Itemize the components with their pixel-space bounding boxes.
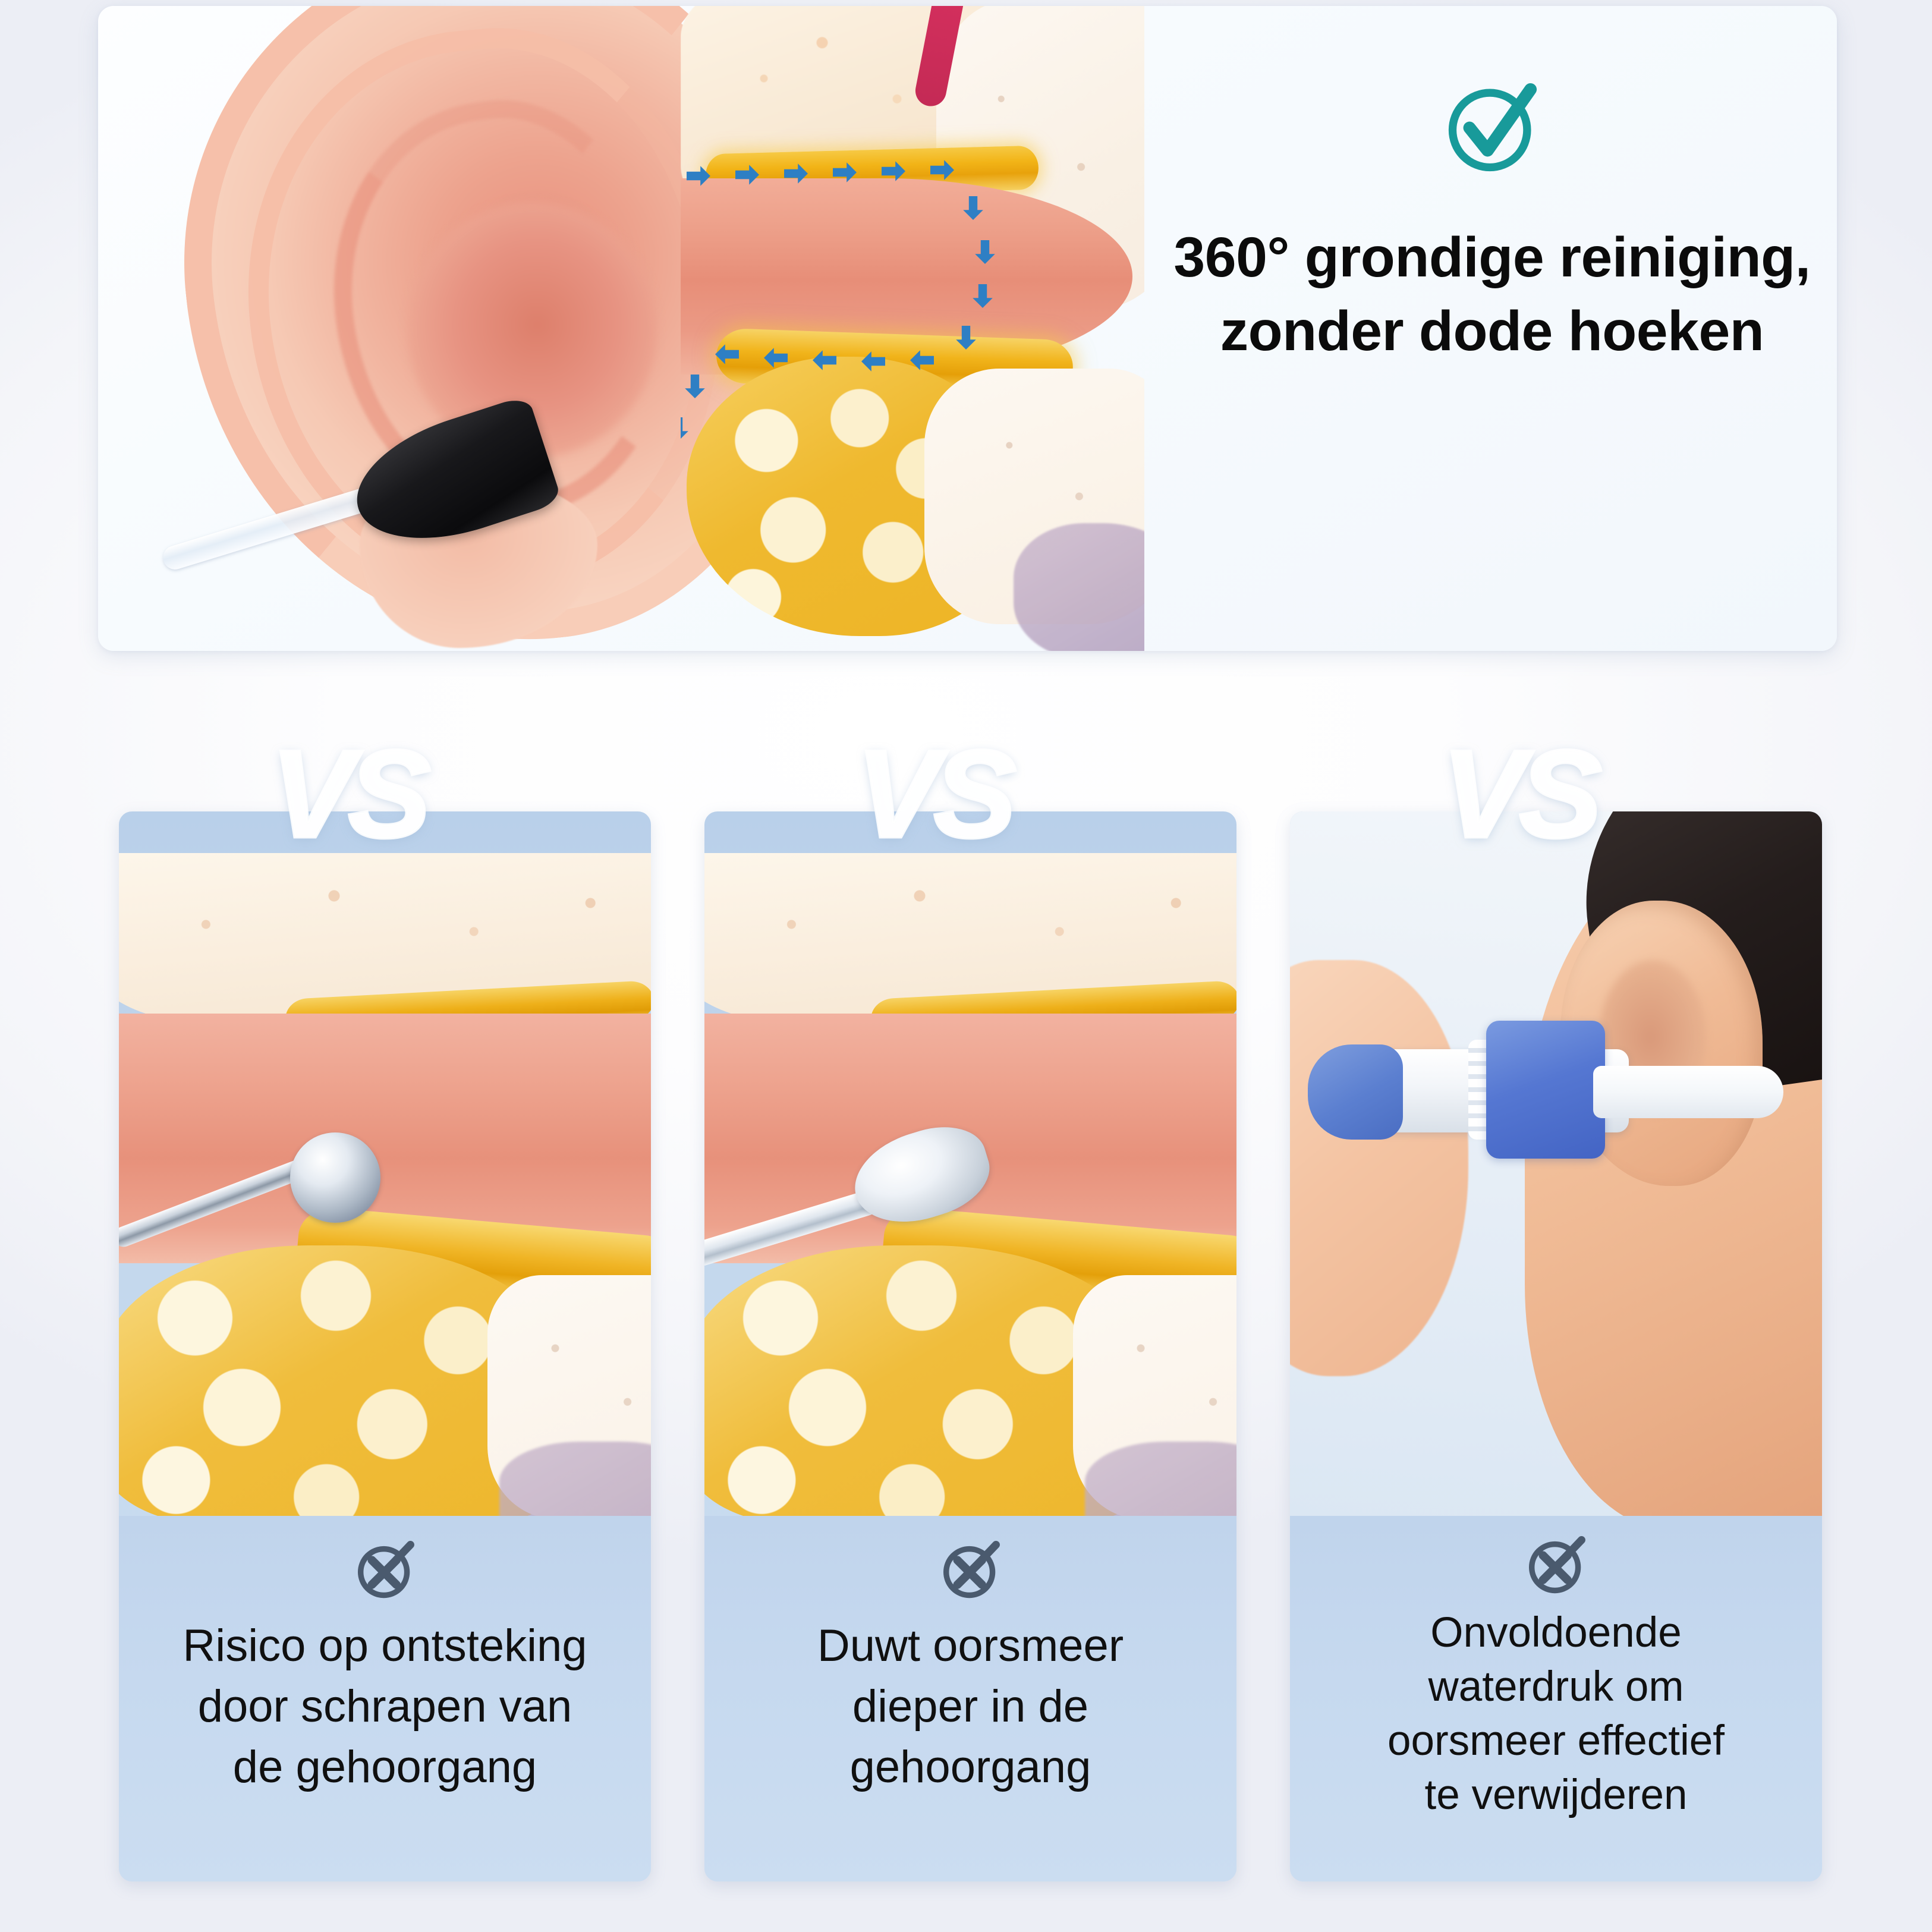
flow-arrow-icon	[683, 375, 707, 398]
caption-line: de gehoorgang	[182, 1737, 587, 1798]
flow-arrow-icon	[833, 161, 857, 184]
hero-panel: 360° grondige reiniging, zonder dode hoe…	[98, 6, 1837, 651]
caption-line: Onvoldoende	[1387, 1606, 1725, 1660]
check-circle-icon	[1436, 71, 1549, 184]
caption-line: Duwt oorsmeer	[817, 1616, 1124, 1676]
flow-arrow-icon	[961, 196, 985, 220]
hero-text-block: 360° grondige reiniging, zonder dode hoe…	[1162, 71, 1822, 368]
device-blue-collar	[1486, 1021, 1605, 1159]
card-caption-panel: Risico op ontsteking door schrapen van d…	[119, 1516, 651, 1881]
card-photo-ear-vacuum	[1290, 811, 1822, 1516]
flow-arrow-icon	[973, 240, 997, 264]
caption-line: te verwijderen	[1387, 1769, 1725, 1823]
card-caption-panel: Onvoldoende waterdruk om oorsmeer effect…	[1290, 1516, 1822, 1881]
caption-line: Risico op ontsteking	[182, 1616, 587, 1676]
model-hand	[1290, 960, 1468, 1376]
card-caption-text: Duwt oorsmeer dieper in de gehoorgang	[797, 1616, 1144, 1797]
caption-line: waterdruk om	[1387, 1660, 1725, 1714]
flow-arrow-icon	[930, 158, 954, 182]
card-caption-panel: Duwt oorsmeer dieper in de gehoorgang	[704, 1516, 1236, 1881]
page-title: 360° grondige reiniging, zonder dode hoe…	[1173, 221, 1810, 368]
flow-arrow-icon	[687, 164, 710, 188]
card-illustration-ear-pick	[119, 811, 651, 1516]
flow-arrow-icon	[735, 163, 759, 187]
flow-arrow-icon	[681, 417, 690, 441]
hero-title-line-1: 360° grondige reiniging,	[1173, 221, 1810, 295]
caption-line: oorsmeer effectief	[1387, 1714, 1725, 1769]
x-circle-icon	[936, 1535, 1006, 1605]
flow-arrow-icon	[954, 326, 978, 350]
flow-arrow-icon	[882, 159, 905, 183]
flow-arrow-icon	[910, 348, 934, 372]
card-caption-text: Risico op ontsteking door schrapen van d…	[162, 1616, 607, 1797]
flow-arrow-icon	[764, 346, 788, 370]
x-circle-icon	[350, 1535, 420, 1605]
ear-canal-cross-section	[681, 6, 1144, 651]
device-white-tip	[1593, 1066, 1783, 1118]
caption-line: dieper in de	[817, 1676, 1124, 1737]
ear-pick-scoop-head	[290, 1132, 380, 1223]
flow-arrow-icon	[971, 284, 995, 308]
device-grip	[1308, 1044, 1403, 1140]
comparison-card-ear-vacuum: Onvoldoende waterdruk om oorsmeer effect…	[1290, 811, 1822, 1881]
card-caption-text: Onvoldoende waterdruk om oorsmeer effect…	[1374, 1606, 1738, 1823]
flow-arrow-icon	[784, 162, 808, 185]
comparison-card-ear-pick: Risico op ontsteking door schrapen van d…	[119, 811, 651, 1881]
mastoid-tissue	[1014, 523, 1144, 651]
hero-title-line-2: zonder dode hoeken	[1173, 295, 1810, 369]
flow-arrow-icon	[813, 348, 836, 372]
ear-anatomy-illustration	[98, 6, 1144, 651]
comparison-card-row: Risico op ontsteking door schrapen van d…	[119, 811, 1837, 1881]
flow-arrow-icon	[861, 350, 885, 373]
x-circle-icon	[1521, 1530, 1591, 1600]
caption-line: gehoorgang	[817, 1737, 1124, 1798]
caption-line: door schrapen van	[182, 1676, 587, 1737]
comparison-card-cotton-swab: Duwt oorsmeer dieper in de gehoorgang	[704, 811, 1236, 1881]
card-illustration-cotton-swab	[704, 811, 1236, 1516]
flow-arrow-icon	[715, 342, 739, 366]
